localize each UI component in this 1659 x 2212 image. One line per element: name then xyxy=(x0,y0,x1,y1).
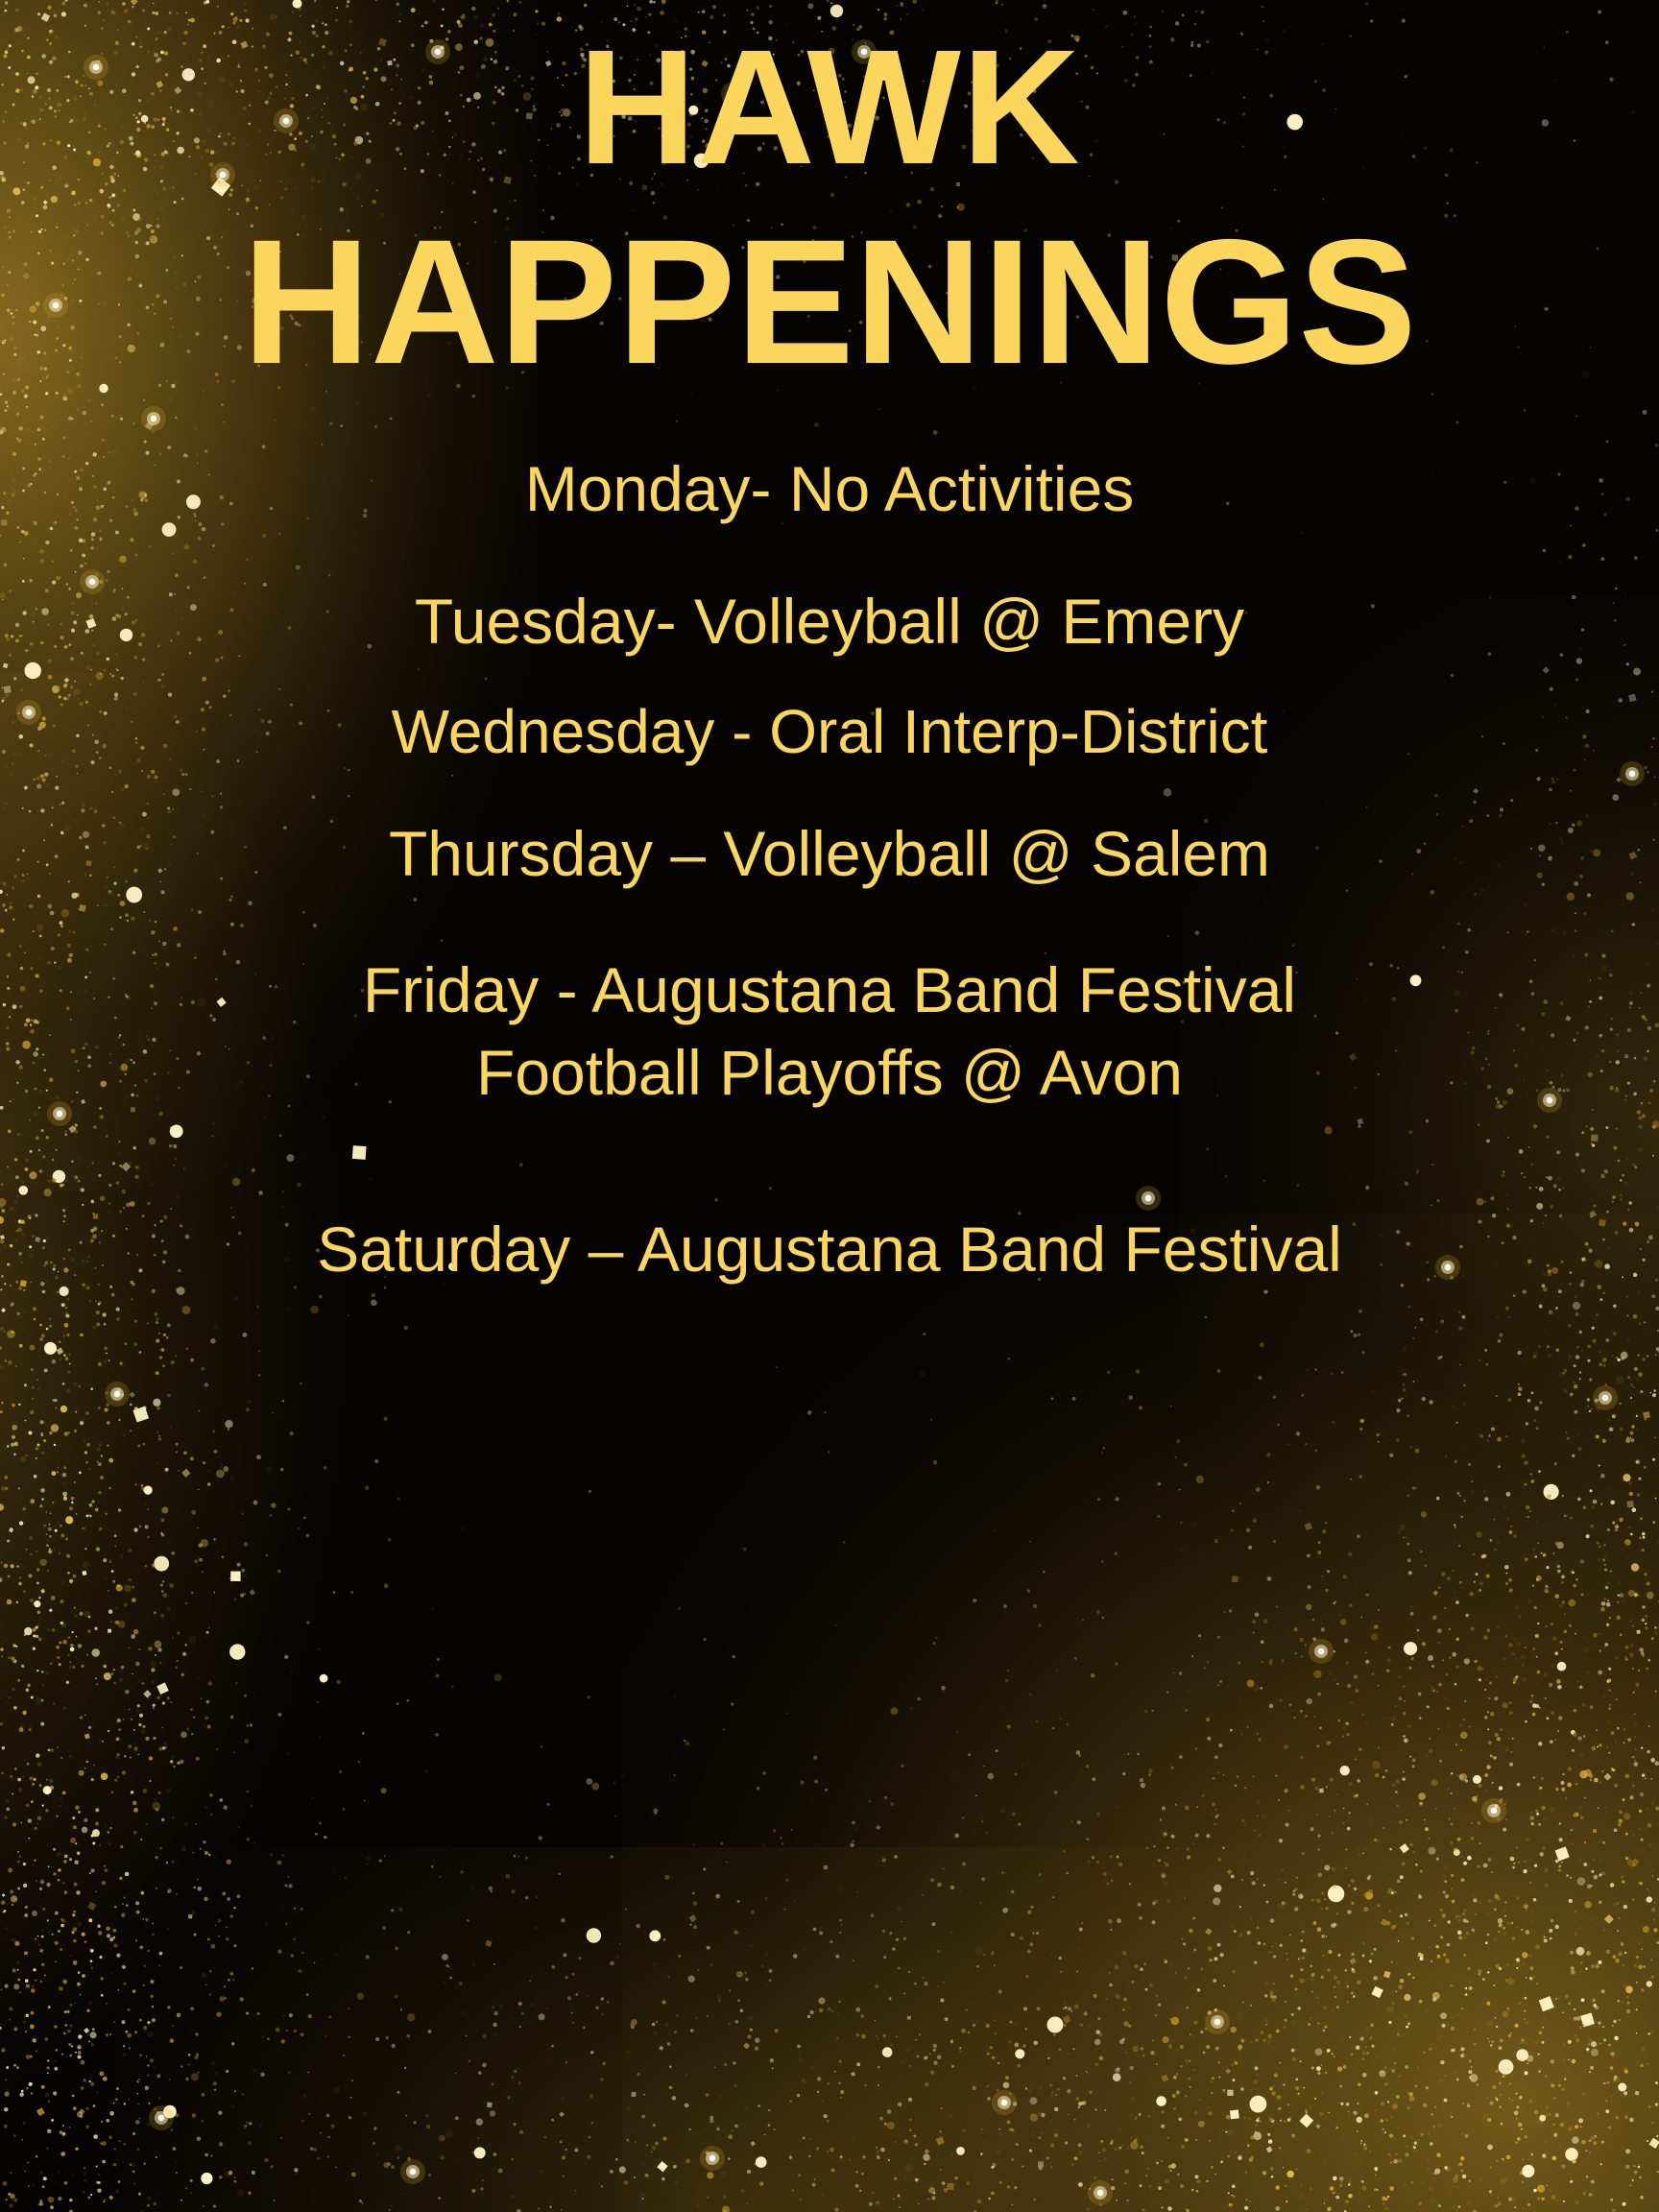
schedule-item-tuesday: Tuesday- Volleyball @ Emery xyxy=(0,589,1659,653)
schedule-item-friday-second: Football Playoffs @ Avon xyxy=(0,1041,1659,1104)
title-line-happenings: HAPPENINGS xyxy=(0,212,1659,394)
poster-title: HAWK HAPPENINGS xyxy=(0,0,1659,394)
schedule-item-thursday: Thursday – Volleyball @ Salem xyxy=(0,822,1659,885)
schedule-item-saturday: Saturday – Augustana Band Festival xyxy=(0,1217,1659,1281)
schedule-item-monday: Monday- No Activities xyxy=(0,457,1659,520)
weekly-schedule-list: Monday- No Activities Tuesday- Volleybal… xyxy=(0,457,1659,1281)
title-line-hawk: HAWK xyxy=(0,25,1659,191)
schedule-item-friday: Friday - Augustana Band Festival xyxy=(0,958,1659,1022)
schedule-item-wednesday: Wednesday - Oral Interp-District xyxy=(0,701,1659,762)
poster-canvas: HAWK HAPPENINGS Monday- No Activities Tu… xyxy=(0,0,1659,2212)
poster-content: HAWK HAPPENINGS Monday- No Activities Tu… xyxy=(0,0,1659,2212)
